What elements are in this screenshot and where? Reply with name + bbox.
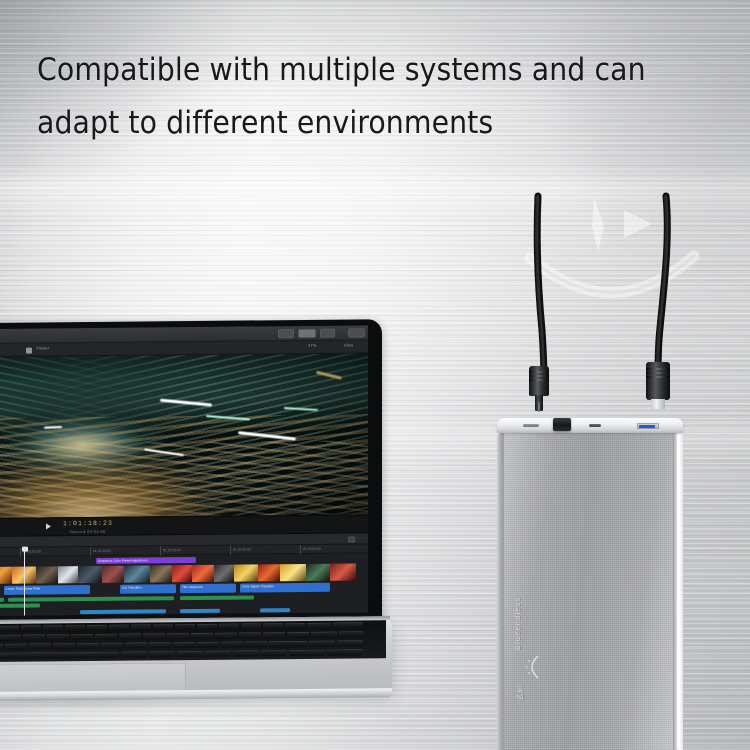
timeline-clip[interactable] <box>180 595 254 600</box>
brand-name-secondary: 蓝硕 <box>514 685 524 700</box>
clip-thumbnail[interactable] <box>234 564 258 581</box>
marker-clip[interactable]: Sequence Color Preset Adjustment <box>96 557 196 564</box>
audio-clip[interactable] <box>260 608 290 612</box>
clip-thumbnail[interactable] <box>280 564 306 581</box>
usb-a-plug <box>646 362 672 414</box>
silver-laptop: Viewer 37% View <box>0 322 402 722</box>
ruler-tick-label: 01:02:00:00 <box>163 548 181 552</box>
timeline-clip[interactable] <box>0 603 40 608</box>
ruler-tick-label: 01:02:30:00 <box>233 547 251 551</box>
tunnel-footage <box>0 353 368 519</box>
usb3-port[interactable] <box>637 423 659 429</box>
audio-clip[interactable] <box>80 609 166 614</box>
timeline-clip[interactable] <box>8 596 174 602</box>
clip-thumbnail[interactable] <box>0 567 12 584</box>
laptop-lid: Viewer 37% View <box>0 319 382 630</box>
video-track-lane[interactable] <box>0 563 368 585</box>
zoom-level-label[interactable]: 37% <box>308 343 317 348</box>
laptop-screen: Viewer 37% View <box>0 325 368 617</box>
audio-clip[interactable] <box>4 616 60 617</box>
timeline-clip-label: Color Adjust Transition <box>242 584 274 588</box>
timeline-panel[interactable]: 01:00:00:00 01:00:30:00 01:01:00:00 01:0… <box>0 533 368 617</box>
transport-sublabel: Record 00:04:06 <box>70 529 106 534</box>
plug-tip-pin <box>538 402 540 412</box>
enclosure-sheen <box>497 432 683 750</box>
timeline-clip[interactable]: Color Adjust Transition <box>240 583 330 593</box>
laptop-trackpad[interactable] <box>0 663 186 693</box>
dc-barrel-plug <box>529 366 551 418</box>
clip-thumbnail[interactable] <box>58 566 78 583</box>
timecode-display: 1:01:18:23 <box>63 520 113 527</box>
timeline-clip[interactable]: Lower Third Name Plate <box>4 585 90 595</box>
marker-clip-label: Sequence Color Preset Adjustment <box>98 558 148 562</box>
timeline-clip[interactable] <box>0 598 4 603</box>
view-menu-label[interactable]: View <box>344 342 353 347</box>
play-icon[interactable] <box>46 523 51 529</box>
clip-thumbnail[interactable] <box>102 566 124 583</box>
enclosure-left-bevel <box>497 432 504 750</box>
clip-thumbnail[interactable] <box>78 566 102 583</box>
clip-thumbnail[interactable] <box>258 564 280 581</box>
toolbar-label: Viewer <box>36 345 49 350</box>
brand-name: Blueendless <box>515 596 522 650</box>
clip-thumbnail[interactable] <box>150 565 172 582</box>
view-button-1[interactable] <box>278 329 294 338</box>
brand-arc-icon <box>523 654 543 680</box>
tunnel-vignette <box>0 353 368 519</box>
enclosure-right-highlight <box>677 434 680 748</box>
external-hard-drive-enclosure: Blueendless 蓝硕 <box>497 418 697 750</box>
timeline-clip-label: Cut Transition <box>122 585 142 589</box>
ruler-tick-label: 01:01:30:00 <box>93 549 111 553</box>
laptop-keyboard[interactable] <box>0 620 386 664</box>
status-led <box>589 424 601 427</box>
laptop-base <box>0 619 392 715</box>
clip-thumbnail[interactable] <box>192 565 214 582</box>
ruler-tick-label: 01:03:00:00 <box>303 547 321 551</box>
enclosure-top-panel <box>497 418 683 433</box>
view-button-4[interactable] <box>348 328 365 337</box>
micro-usb-port[interactable] <box>553 418 571 431</box>
timeline-playhead[interactable] <box>24 548 25 616</box>
enclosure-body: Blueendless 蓝硕 <box>497 432 683 750</box>
clip-thumbnail[interactable] <box>36 566 58 583</box>
clip-thumbnail[interactable] <box>306 564 330 581</box>
page-title: Compatible with multiple systems and can… <box>37 44 727 150</box>
timeline-clip-label: Title Sequence <box>182 584 203 588</box>
banner-stage: Compatible with multiple systems and can… <box>0 0 750 750</box>
plug-metal-contact <box>651 399 665 409</box>
view-button-2[interactable] <box>298 329 316 338</box>
usb3-blue-insert <box>639 425 655 428</box>
clip-thumbnail[interactable] <box>124 565 150 582</box>
audio-clip[interactable] <box>180 609 220 613</box>
timeline-clip[interactable]: Cut Transition <box>120 584 176 594</box>
clip-thumbnail[interactable] <box>214 565 234 582</box>
timeline-settings-icon[interactable] <box>348 536 355 542</box>
viewer-icon <box>26 347 32 353</box>
video-preview[interactable] <box>0 353 368 519</box>
clip-thumbnail[interactable] <box>172 565 192 582</box>
laptop-shadow <box>0 701 354 717</box>
view-button-3[interactable] <box>320 329 335 338</box>
clip-thumbnail[interactable] <box>330 563 356 580</box>
audio-track-lane[interactable] <box>0 607 368 616</box>
vent-slot <box>523 424 539 427</box>
timeline-clip[interactable]: Title Sequence <box>180 584 236 594</box>
